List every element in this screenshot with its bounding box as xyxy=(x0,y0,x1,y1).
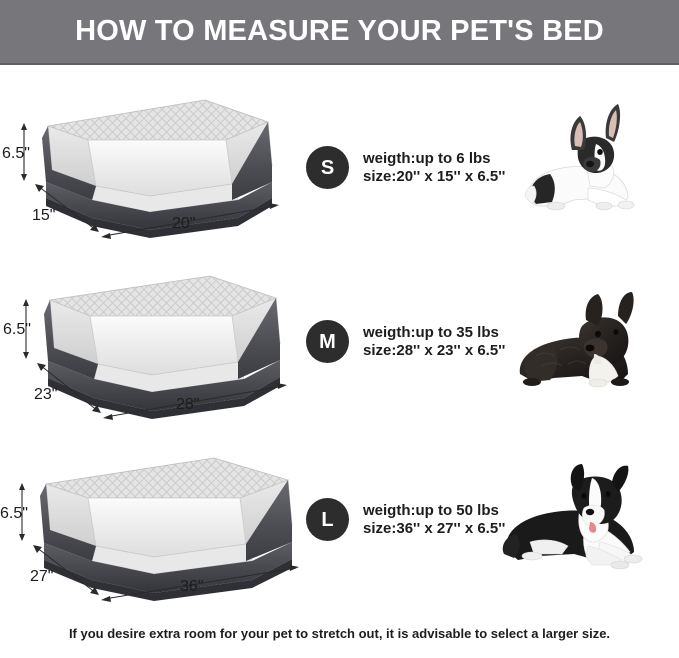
bed-illustration-m: 6.5" 23" 28" xyxy=(0,258,300,433)
size-line-m: size:28'' x 23'' x 6.5'' xyxy=(363,342,505,360)
bed-diagram-l-svg: 6.5" 27" 36" xyxy=(0,438,310,613)
spec-text-s: weigth:up to 6 lbs size:20'' x 15'' x 6.… xyxy=(363,150,505,186)
bed-illustration-s: 6.5" 15" 20" xyxy=(0,78,300,253)
border-collie-photo xyxy=(500,446,675,586)
border-collie-shape xyxy=(503,464,642,569)
dimension-height-label-l: 6.5" xyxy=(0,505,28,522)
dimension-depth-label-m: 23" xyxy=(34,386,57,403)
dimension-height-label-s: 6.5" xyxy=(2,145,30,162)
dimension-depth-label-l: 27" xyxy=(30,568,53,585)
french-bulldog-photo xyxy=(510,270,679,410)
weight-line-l: weigth:up to 50 lbs xyxy=(363,502,505,520)
dimension-width-label-s: 20" xyxy=(172,215,195,232)
size-badge-letter-l: L xyxy=(321,510,333,530)
size-badge-m: M xyxy=(306,320,349,363)
infographic-page: HOW TO MEASURE YOUR PET'S BED xyxy=(0,0,679,658)
weight-line-m: weigth:up to 35 lbs xyxy=(363,324,505,342)
size-row-s: 6.5" 15" 20" S xyxy=(0,78,679,253)
spec-text-l: weigth:up to 50 lbs size:36'' x 27'' x 6… xyxy=(363,502,505,538)
spec-block-l: L weigth:up to 50 lbs size:36'' x 27'' x… xyxy=(306,498,505,541)
bed-body-s xyxy=(42,100,272,238)
footer-note-text: If you desire extra room for your pet to… xyxy=(69,626,610,641)
size-row-m: 6.5" 23" 28" M weigth:up xyxy=(0,258,679,433)
spec-block-s: S weigth:up to 6 lbs size:20'' x 15'' x … xyxy=(306,146,505,189)
size-badge-letter-m: M xyxy=(319,332,336,352)
french-bulldog-shape xyxy=(520,292,634,387)
size-line-l: size:36'' x 27'' x 6.5'' xyxy=(363,520,505,538)
border-collie-svg xyxy=(500,446,679,586)
spec-block-m: M weigth:up to 35 lbs size:28'' x 23'' x… xyxy=(306,320,505,363)
size-row-l: 6.5" 27" 36" L weigth:up xyxy=(0,438,679,613)
dimension-depth-label-s: 15" xyxy=(32,207,55,224)
dimension-width-label-l: 36" xyxy=(180,578,203,595)
chihuahua-photo xyxy=(510,92,679,232)
bed-diagram-s-svg: 6.5" 15" 20" xyxy=(0,78,300,253)
chihuahua-shape xyxy=(525,104,634,210)
size-badge-letter-s: S xyxy=(321,158,334,178)
size-badge-s: S xyxy=(306,146,349,189)
dimension-width-label-m: 28" xyxy=(176,396,199,413)
spec-text-m: weigth:up to 35 lbs size:28'' x 23'' x 6… xyxy=(363,324,505,360)
bed-diagram-m-svg: 6.5" 23" 28" xyxy=(0,258,300,433)
header-banner: HOW TO MEASURE YOUR PET'S BED xyxy=(0,0,679,65)
size-badge-l: L xyxy=(306,498,349,541)
bed-body-m xyxy=(44,276,280,419)
chihuahua-svg xyxy=(510,92,679,232)
weight-line-s: weigth:up to 6 lbs xyxy=(363,150,505,168)
bed-illustration-l: 6.5" 27" 36" xyxy=(0,438,300,613)
dimension-height-label-m: 6.5" xyxy=(3,321,31,338)
french-bulldog-svg xyxy=(510,270,679,410)
size-line-s: size:20'' x 15'' x 6.5'' xyxy=(363,168,505,186)
footer-note: If you desire extra room for your pet to… xyxy=(0,625,679,643)
page-title: HOW TO MEASURE YOUR PET'S BED xyxy=(75,15,604,48)
